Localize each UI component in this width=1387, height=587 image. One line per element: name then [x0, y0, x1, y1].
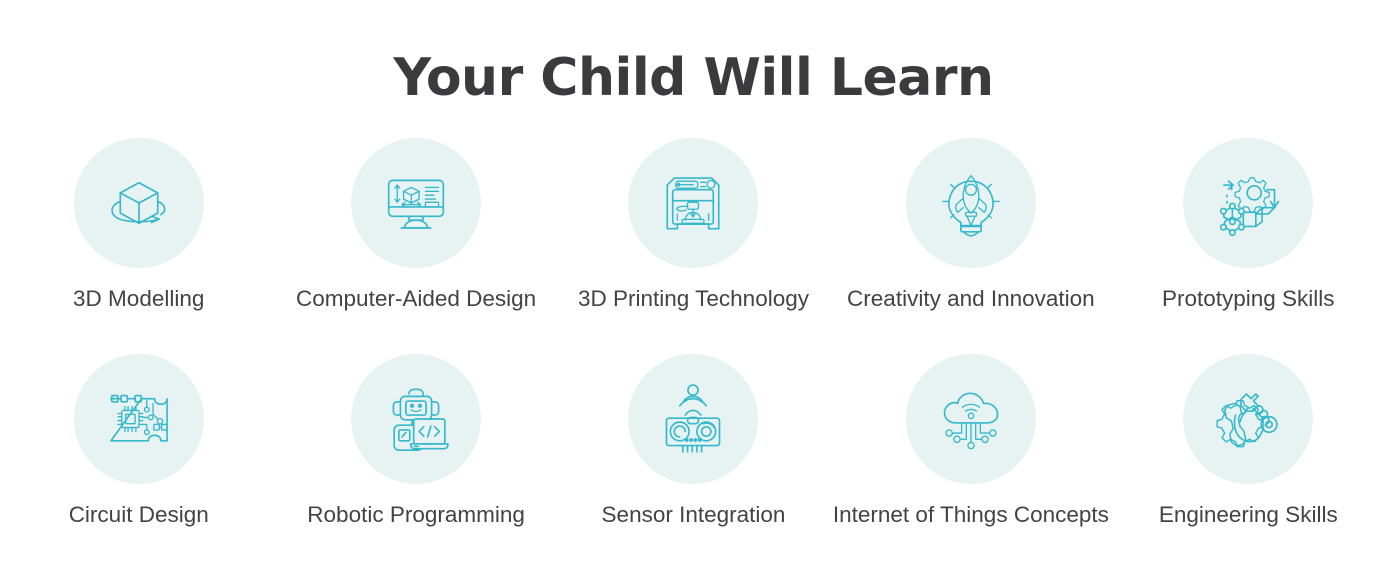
rocket-lightbulb-icon — [932, 164, 1010, 242]
skill-card[interactable]: Internet of Things Concepts — [832, 354, 1109, 528]
skill-card[interactable]: Sensor Integration — [555, 354, 832, 528]
skills-row: 3D Modelling — [0, 138, 1387, 312]
skill-label: Engineering Skills — [1159, 502, 1338, 528]
icon-badge — [351, 138, 481, 268]
rotating-cube-icon — [100, 164, 178, 242]
gear-mesh-cube-icon — [1209, 164, 1287, 242]
icon-badge — [906, 354, 1036, 484]
skill-card[interactable]: 3D Printing Technology — [555, 138, 832, 312]
icon-badge — [1183, 138, 1313, 268]
page-title: Your Child Will Learn — [0, 0, 1387, 104]
icon-badge — [628, 138, 758, 268]
sensor-signal-icon — [654, 380, 732, 458]
skill-card[interactable]: Creativity and Innovation — [832, 138, 1109, 312]
skill-label: Prototyping Skills — [1162, 286, 1335, 312]
learning-outcomes-section: Your Child Will Learn — [0, 0, 1387, 587]
skill-label: Circuit Design — [69, 502, 209, 528]
skill-label: Internet of Things Concepts — [833, 502, 1109, 528]
skills-grid: 3D Modelling — [0, 138, 1387, 528]
skills-row: Circuit Design — [0, 354, 1387, 528]
icon-badge — [628, 354, 758, 484]
3d-printer-icon — [654, 164, 732, 242]
skill-label: Creativity and Innovation — [847, 286, 1095, 312]
icon-badge — [74, 138, 204, 268]
skill-label: Computer-Aided Design — [296, 286, 536, 312]
skill-card[interactable]: Robotic Programming — [277, 354, 554, 528]
skill-label: Sensor Integration — [602, 502, 786, 528]
skill-card[interactable]: 3D Modelling — [0, 138, 277, 312]
skill-card[interactable]: Circuit Design — [0, 354, 277, 528]
cad-monitor-icon — [377, 164, 455, 242]
skill-card[interactable]: Computer-Aided Design — [277, 138, 554, 312]
hand-wrench-gear-icon — [1209, 380, 1287, 458]
icon-badge — [906, 138, 1036, 268]
icon-badge — [74, 354, 204, 484]
robot-laptop-code-icon — [377, 380, 455, 458]
skill-label: 3D Printing Technology — [578, 286, 809, 312]
skill-card[interactable]: Prototyping Skills — [1110, 138, 1387, 312]
icon-badge — [351, 354, 481, 484]
skill-card[interactable]: Engineering Skills — [1110, 354, 1387, 528]
skill-label: 3D Modelling — [73, 286, 204, 312]
skill-label: Robotic Programming — [307, 502, 525, 528]
circuit-board-icon — [100, 380, 178, 458]
cloud-network-icon — [932, 380, 1010, 458]
icon-badge — [1183, 354, 1313, 484]
